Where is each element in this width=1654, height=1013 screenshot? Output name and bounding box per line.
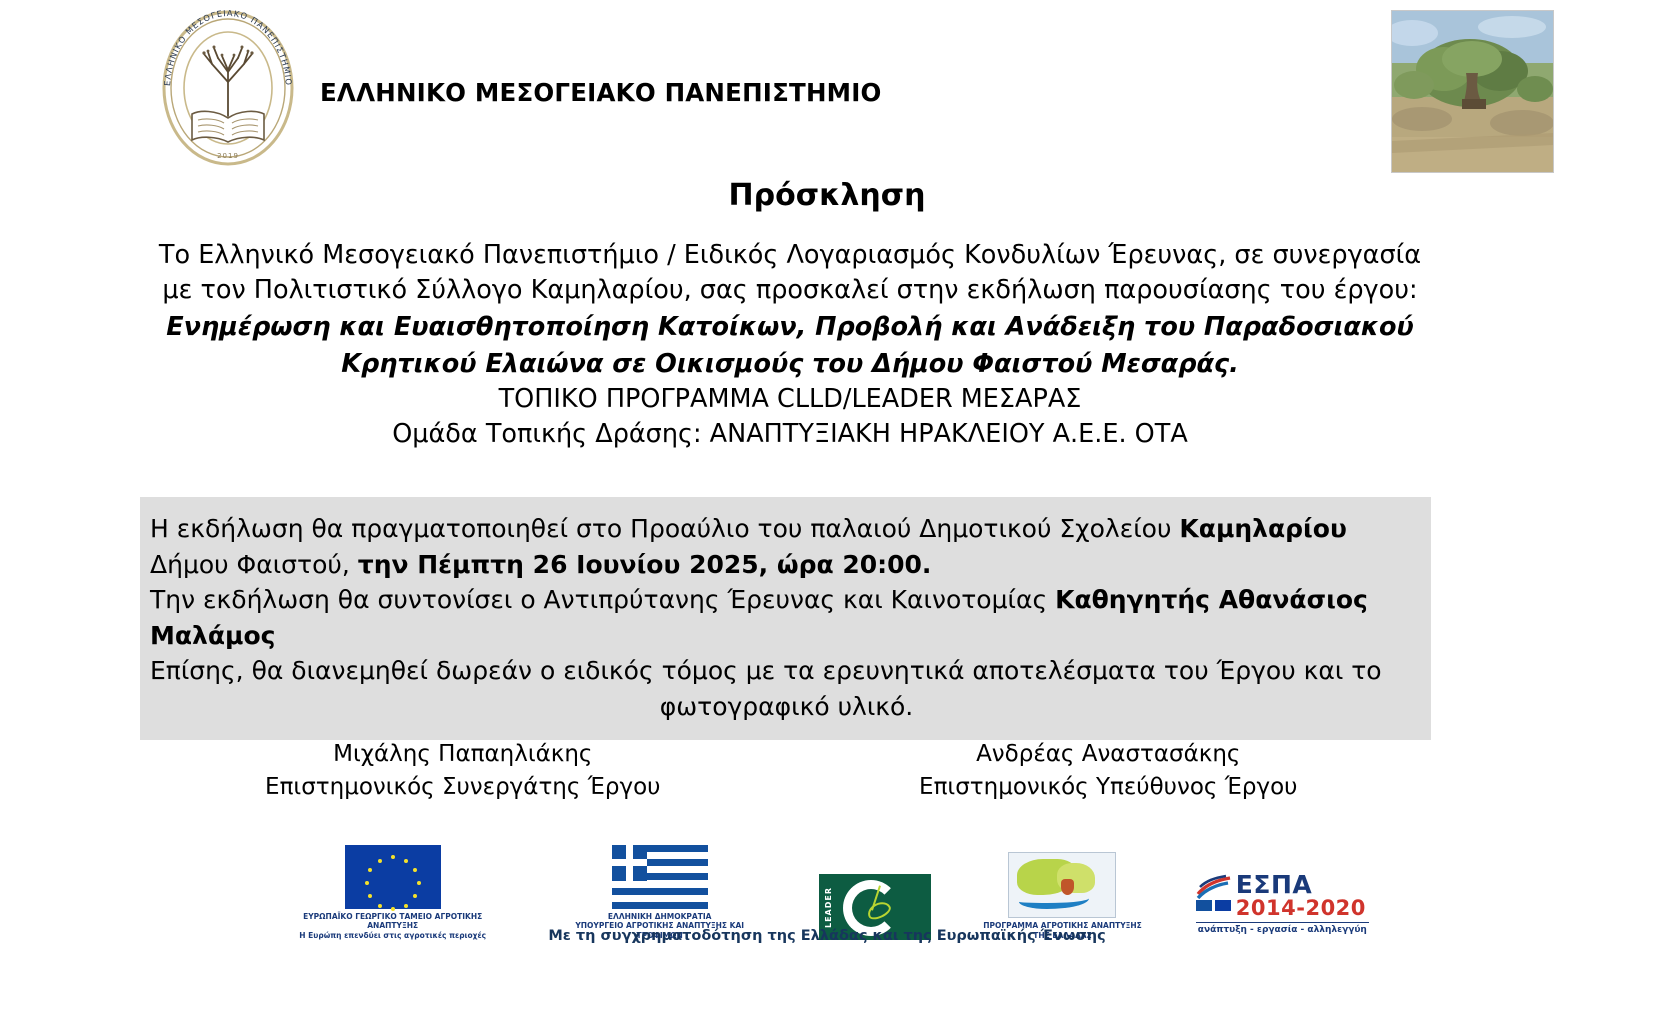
eu-flag-icon [345, 845, 441, 909]
signature-role: Επιστημονικός Υπεύθυνος Έργου [818, 771, 1399, 804]
university-seal-logo: ΕΛΛΗΝΙΚΟ ΜΕΣΟΓΕΙΑΚΟ ΠΑΝΕΠΙΣΤΗΜΙΟ [148, 8, 308, 168]
espa-swoosh-icon [1196, 874, 1232, 900]
event-host-paragraph: Την εκδήλωση θα συντονίσει ο Αντιπρύτανη… [150, 582, 1423, 618]
espa-title: ΕΣΠΑ [1236, 870, 1312, 899]
event-details-box: Η εκδήλωση θα πραγματοποιηθεί στο Προαύλ… [140, 497, 1431, 740]
event-host-surname-paragraph: Μαλάμος [150, 618, 1423, 654]
signature-name: Ανδρέας Αναστασάκης [818, 738, 1399, 771]
event-venue-paragraph: Η εκδήλωση θα πραγματοποιηθεί στο Προαύλ… [150, 511, 1423, 547]
event-host-surname: Μαλάμος [150, 621, 275, 650]
event-handout-paragraph-2: φωτογραφικό υλικό. [150, 689, 1423, 725]
document-header: ΕΛΛΗΝΙΚΟ ΜΕΣΟΓΕΙΑΚΟ ΠΑΝΕΠΙΣΤΗΜΙΟ [0, 0, 1654, 185]
regional-program-icon [1008, 852, 1116, 918]
signature-block: Μιχάλης Παπαηλιάκης Επιστημονικός Συνεργ… [140, 738, 1431, 805]
program-line: ΤΟΠΙΚΟ ΠΡΟΓΡΑΜΜΑ CLLD/LEADER ΜΕΣΑΡΑΣ [150, 382, 1430, 417]
greek-republic-caption-line-1: ΕΛΛΗΝΙΚΗ ΔΗΜΟΚΡΑΤΙΑ [552, 912, 767, 921]
local-action-group-line: Ομάδα Τοπικής Δράσης: ΑΝΑΠΤΥΞΙΑΚΗ ΗΡΑΚΛΕ… [150, 417, 1430, 452]
page-title: Πρόσκληση [0, 178, 1654, 213]
event-datetime-paragraph: Δήμου Φαιστού, την Πέμπτη 26 Ιουνίου 202… [150, 547, 1423, 583]
eu-flag-logo: ΕΥΡΩΠΑΪΚΟ ΓΕΩΡΓΙΚΟ ΤΑΜΕΙΟ ΑΓΡΟΤΙΚΗΣ ΑΝΑΠ… [285, 845, 500, 940]
greek-republic-logo: ΕΛΛΗΝΙΚΗ ΔΗΜΟΚΡΑΤΙΑ ΥΠΟΥΡΓΕΙΟ ΑΓΡΟΤΙΚΗΣ … [552, 845, 767, 940]
leader-label-text: LEADER [824, 887, 833, 928]
event-venue-text: Η εκδήλωση θα πραγματοποιηθεί στο Προαύλ… [150, 514, 1179, 543]
university-name: ΕΛΛΗΝΙΚΟ ΜΕΣΟΓΕΙΑΚΟ ΠΑΝΕΠΙΣΤΗΜΙΟ [320, 78, 882, 107]
espa-eu-flag-icon [1215, 900, 1231, 911]
event-venue-place: Καμηλαρίου [1179, 514, 1346, 543]
olive-tree-photo [1391, 10, 1554, 173]
signature-name: Μιχάλης Παπαηλιάκης [172, 738, 753, 771]
espa-mini-flags [1196, 900, 1231, 911]
svg-text:2019: 2019 [217, 152, 239, 160]
event-host-text: Την εκδήλωση θα συντονίσει ο Αντιπρύτανη… [150, 585, 1055, 614]
event-datetime: την Πέμπτη 26 Ιουνίου 2025, ώρα 20:00. [358, 550, 932, 579]
intro-line-2: με τον Πολιτιστικό Σύλλογο Καμηλαρίου, σ… [150, 273, 1430, 308]
signature-role: Επιστημονικός Συνεργάτης Έργου [172, 771, 753, 804]
footer-logo-strip: ΕΥΡΩΠΑΪΚΟ ΓΕΩΡΓΙΚΟ ΤΑΜΕΙΟ ΑΓΡΟΤΙΚΗΣ ΑΝΑΠ… [0, 845, 1654, 940]
event-handout-paragraph: Επίσης, θα διανεμηθεί δωρεάν ο ειδικός τ… [150, 653, 1423, 689]
regional-program-logo: ΠΡΟΓΡΑΜΜΑ ΑΓΡΟΤΙΚΗΣ ΑΝΑΠΤΥΞΗΣ ΤΗΣ ΕΛΛΑΔΑ… [983, 852, 1142, 940]
espa-greek-flag-icon [1196, 900, 1212, 911]
project-title-line-2: Κρητικού Ελαιώνα σε Οικισμούς του Δήμου … [150, 347, 1430, 382]
signature-left: Μιχάλης Παπαηλιάκης Επιστημονικός Συνεργ… [172, 738, 753, 805]
intro-line-1: Το Ελληνικό Μεσογειακό Πανεπιστήμιο / Ει… [150, 238, 1430, 273]
signature-right: Ανδρέας Αναστασάκης Επιστημονικός Υπεύθυ… [818, 738, 1399, 805]
event-municipality-text: Δήμου Φαιστού, [150, 550, 358, 579]
cofinancing-note: Με τη συγχρηματοδότηση της Ελλάδας και τ… [0, 928, 1654, 944]
event-host-name: Καθηγητής Αθανάσιος [1055, 585, 1368, 614]
greek-flag-icon [612, 845, 708, 909]
intro-block: Το Ελληνικό Μεσογειακό Πανεπιστήμιο / Ει… [150, 238, 1430, 452]
project-title-line-1: Ενημέρωση και Ευαισθητοποίηση Κατοίκων, … [150, 310, 1430, 345]
espa-years: 2014-2020 [1236, 896, 1366, 920]
